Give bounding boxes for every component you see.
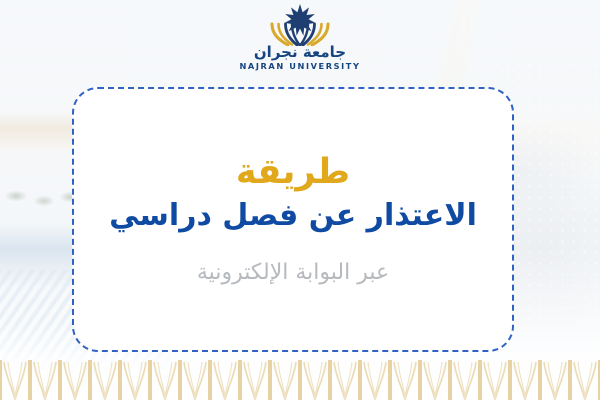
ornament-unit [571,360,599,400]
gold-arch-pattern-strip [0,360,600,400]
ornament-unit [451,360,479,400]
ornament-unit [61,360,89,400]
ornament-unit [151,360,179,400]
card-subtitle: عبر البوابة الإلكترونية [197,260,389,286]
ornament-unit [271,360,299,400]
ornament-unit [121,360,149,400]
title-line-secondary: الاعتذار عن فصل دراسي [109,199,477,234]
poster-canvas: جامعة نجران NAJRAN UNIVERSITY طريقة الاع… [0,0,600,400]
ornament-unit [181,360,209,400]
ornament-unit [1,360,29,400]
ornament-unit [541,360,569,400]
ornament-unit [31,360,59,400]
eight-pointed-star-icon [284,4,315,36]
ornament-unit [211,360,239,400]
dashed-content-card: طريقة الاعتذار عن فصل دراسي عبر البوابة … [72,87,514,352]
ornament-unit [481,360,509,400]
ornament-unit [301,360,329,400]
ornament-unit [91,360,119,400]
najran-university-emblem-icon [269,4,331,46]
ornament-unit [511,360,539,400]
ornament-unit [361,360,389,400]
ornament-unit [391,360,419,400]
title-line-primary: طريقة [236,153,350,192]
logo-name-arabic: جامعة نجران [254,45,346,61]
ornament-unit [421,360,449,400]
university-logo: جامعة نجران NAJRAN UNIVERSITY [0,4,600,76]
ornament-unit [331,360,359,400]
ornament-unit [241,360,269,400]
logo-name-english: NAJRAN UNIVERSITY [239,62,360,72]
